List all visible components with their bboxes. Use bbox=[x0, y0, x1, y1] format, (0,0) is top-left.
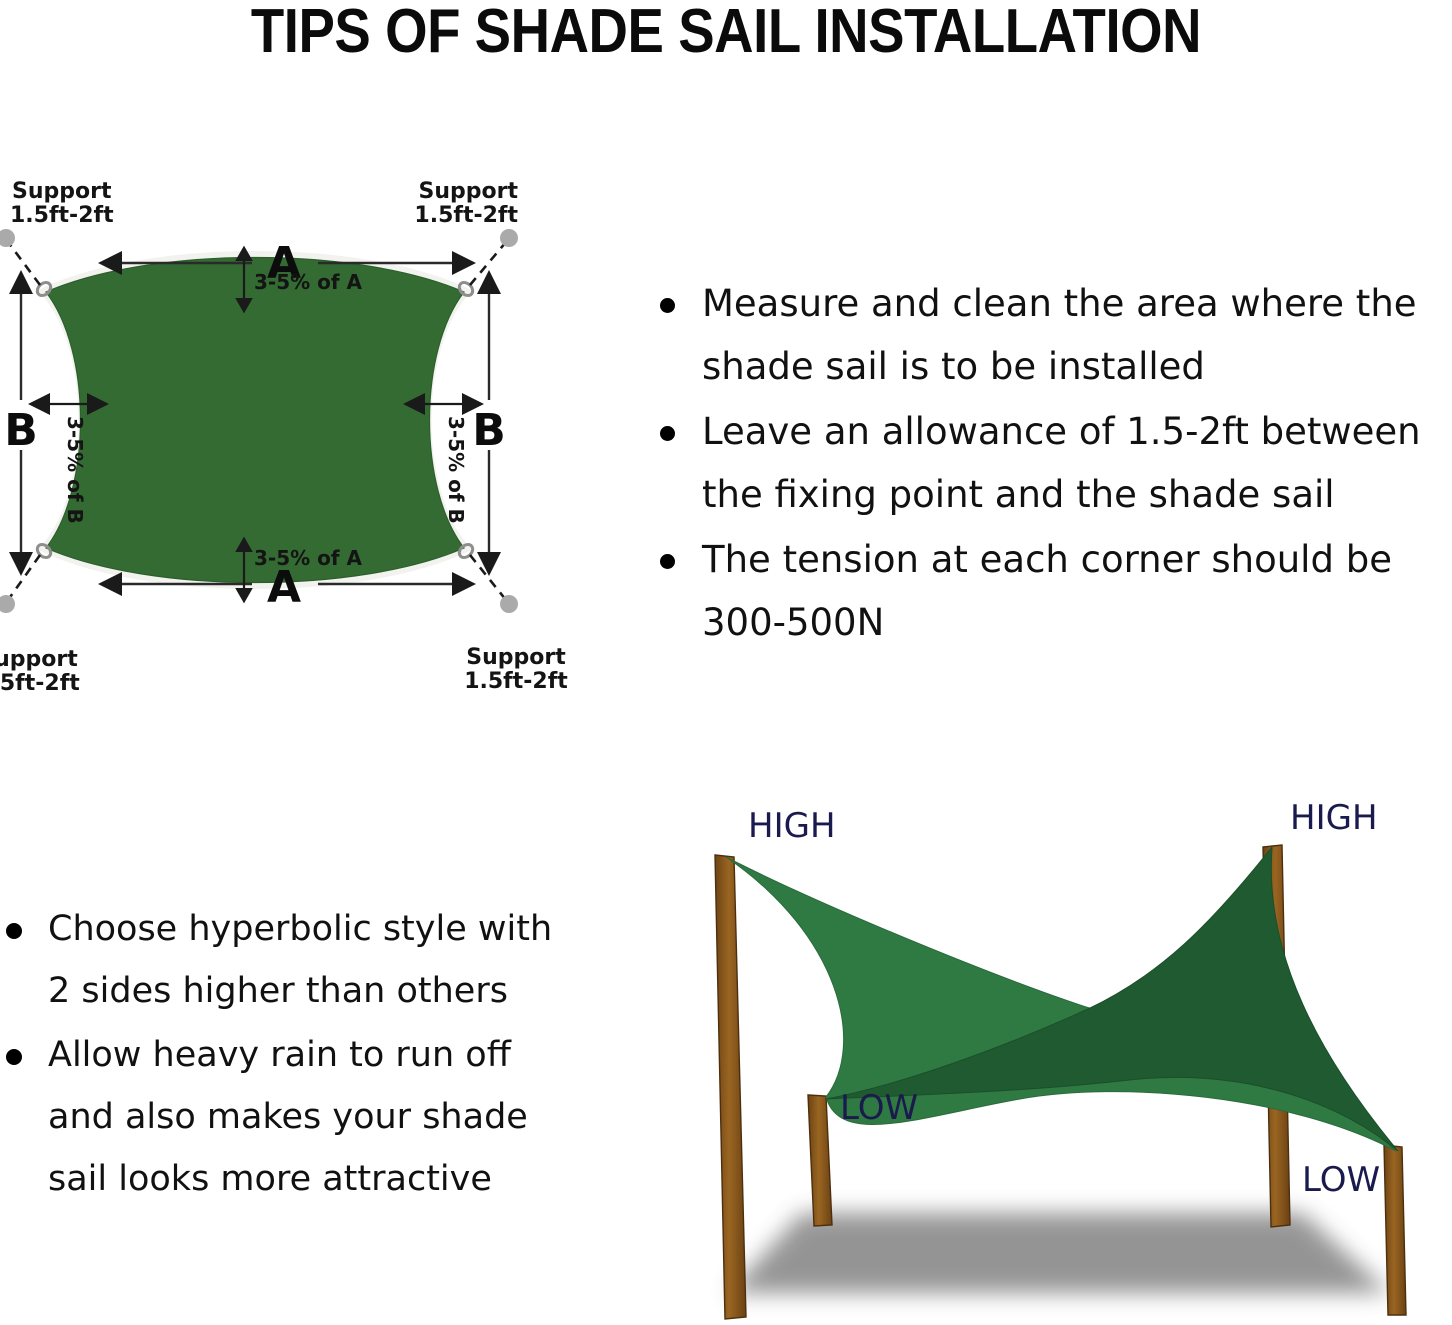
support-point-dot bbox=[0, 595, 15, 613]
tip-line: Choose hyperbolic style with bbox=[48, 909, 552, 949]
pole-low-right bbox=[1384, 1145, 1406, 1315]
list-item: Leave an allowance of 1.5-2ft between th… bbox=[648, 400, 1452, 526]
dim-label-B-left: B bbox=[4, 405, 38, 456]
shade-sail-shape bbox=[46, 258, 464, 583]
infographic-page: TIPS OF SHADE SAIL INSTALLATION bbox=[0, 0, 1452, 1325]
curvature-label-bottom: 3-5% of A bbox=[254, 546, 363, 570]
tip-line: and also makes your shade bbox=[48, 1097, 528, 1137]
curvature-label-right: 3-5% of B bbox=[444, 416, 468, 524]
bullet-dot-icon bbox=[660, 426, 675, 441]
tips-left-block: Choose hyperbolic style with 2 sides hig… bbox=[0, 898, 640, 1212]
page-title: TIPS OF SHADE SAIL INSTALLATION bbox=[87, 0, 1365, 67]
pole-high-left bbox=[715, 855, 746, 1319]
curvature-label-left: 3-5% of B bbox=[63, 416, 87, 524]
tip-line: Allow heavy rain to run off bbox=[48, 1035, 511, 1075]
support-label-line2: 1.5ft-2ft bbox=[414, 203, 518, 228]
support-point-dot bbox=[0, 229, 15, 247]
support-cable-top-right bbox=[470, 242, 506, 285]
support-cable-bottom-left bbox=[8, 555, 40, 600]
tip-line: The tension at each corner should be bbox=[702, 538, 1392, 581]
support-label-line1: Support bbox=[466, 645, 566, 670]
support-cable-top-left bbox=[8, 242, 40, 285]
tip-line: sail looks more attractive bbox=[48, 1159, 492, 1199]
hyperbolic-sail-diagram: HIGH HIGH LOW LOW bbox=[690, 795, 1452, 1325]
label-low-left: LOW bbox=[840, 1088, 918, 1128]
tip-line: 300-500N bbox=[702, 601, 884, 644]
support-label-bottom-left: Support 1.5ft-2ft bbox=[0, 647, 80, 696]
support-label-line2: 1.5ft-2ft bbox=[464, 669, 568, 694]
support-point-dot bbox=[500, 229, 518, 247]
list-item: Measure and clean the area where the sha… bbox=[648, 272, 1452, 398]
label-low-right: LOW bbox=[1302, 1160, 1380, 1200]
tip-line: 2 sides higher than others bbox=[48, 971, 508, 1011]
support-label-top-right: Support 1.5ft-2ft bbox=[414, 179, 518, 228]
tip-line: Measure and clean the area where the bbox=[702, 282, 1417, 325]
list-item: Choose hyperbolic style with 2 sides hig… bbox=[0, 898, 640, 1022]
label-high-right: HIGH bbox=[1290, 798, 1378, 838]
bullet-dot-icon bbox=[660, 298, 675, 313]
support-label-line1: Support bbox=[0, 647, 78, 672]
list-item: The tension at each corner should be 300… bbox=[648, 528, 1452, 654]
list-item: Allow heavy rain to run off and also mak… bbox=[0, 1024, 640, 1210]
tip-line: Leave an allowance of 1.5-2ft between bbox=[702, 410, 1421, 453]
support-label-line1: Support bbox=[12, 179, 112, 204]
support-label-bottom-right: Support 1.5ft-2ft bbox=[464, 645, 568, 694]
dim-label-B-right: B bbox=[472, 405, 506, 456]
pole-low-left bbox=[808, 1095, 832, 1226]
bullet-dot-icon bbox=[6, 923, 22, 939]
bullet-dot-icon bbox=[660, 554, 675, 569]
support-label-line2: 1.5ft-2ft bbox=[10, 203, 114, 228]
support-label-line2: 1.5ft-2ft bbox=[0, 671, 80, 696]
tip-line: shade sail is to be installed bbox=[702, 345, 1205, 388]
installation-tips-list: Measure and clean the area where the sha… bbox=[648, 272, 1452, 654]
rect-sail-diagram: Support 1.5ft-2ft Support 1.5ft-2ft Supp… bbox=[0, 160, 660, 740]
tip-line: the fixing point and the shade sail bbox=[702, 473, 1335, 516]
support-label-top-left: Support 1.5ft-2ft bbox=[10, 179, 114, 228]
bullet-dot-icon bbox=[6, 1049, 22, 1065]
label-high-left: HIGH bbox=[748, 806, 836, 846]
support-cable-bottom-right bbox=[470, 555, 506, 600]
support-point-dot bbox=[500, 595, 518, 613]
curvature-label-top: 3-5% of A bbox=[254, 270, 363, 294]
support-label-line1: Support bbox=[419, 179, 519, 204]
tips-right-block: Measure and clean the area where the sha… bbox=[648, 272, 1452, 656]
hyperbolic-style-tips-list: Choose hyperbolic style with 2 sides hig… bbox=[0, 898, 640, 1210]
